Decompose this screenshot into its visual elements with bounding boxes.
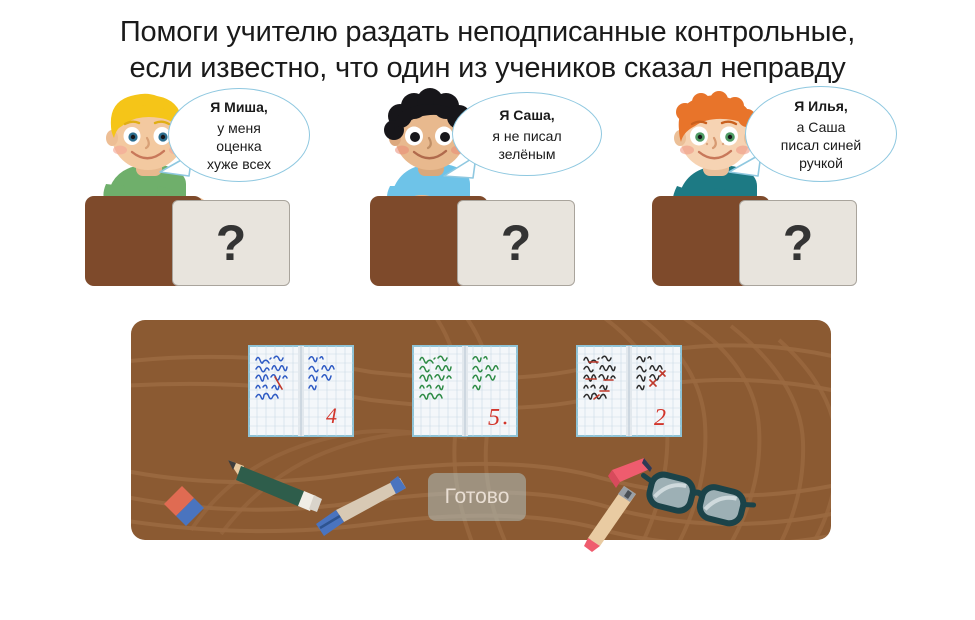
bubble-line: оценка — [216, 137, 261, 155]
bubble-name-sasha: Я Саша, — [499, 106, 554, 125]
answer-slot-misha[interactable]: ? — [172, 200, 290, 286]
bubble-line: а Саша — [797, 118, 846, 136]
answer-placeholder: ? — [216, 214, 247, 272]
notebook-green[interactable]: 5 — [412, 345, 518, 437]
answer-placeholder: ? — [783, 214, 814, 272]
bubble-line: писал синей — [781, 136, 861, 154]
glasses-icon — [640, 470, 760, 540]
bubble-name-ilya: Я Илья, — [794, 97, 848, 116]
answer-slot-ilya[interactable]: ? — [739, 200, 857, 286]
speech-bubble-sasha: Я Саша, я не писал зелёным — [452, 92, 602, 176]
title-line-2: если известно, что один из учеников сказ… — [0, 50, 975, 86]
pen-blue-icon — [300, 470, 410, 540]
grade-mark: 4 — [326, 403, 337, 428]
grade-mark: 2 — [654, 405, 666, 431]
bubble-line: ручкой — [799, 154, 843, 172]
pencil-beige-icon — [578, 480, 648, 555]
notebook-black[interactable]: 2 — [576, 345, 682, 437]
bubble-line: хуже всех — [207, 155, 271, 173]
bubble-name-misha: Я Миша, — [210, 98, 268, 117]
bubble-line: я не писал — [492, 127, 561, 145]
grade-mark: 5 — [488, 405, 500, 431]
eraser-red-blue-icon — [160, 478, 220, 528]
puzzle-scene: Помоги учителю раздать неподписанные кон… — [0, 0, 975, 620]
title-line-1: Помоги учителю раздать неподписанные кон… — [0, 14, 975, 50]
bubble-line: у меня — [217, 119, 261, 137]
done-button[interactable]: Готово — [428, 473, 526, 521]
answer-placeholder: ? — [501, 214, 532, 272]
notebook-blue[interactable]: 4 — [248, 345, 354, 437]
answer-slot-sasha[interactable]: ? — [457, 200, 575, 286]
speech-bubble-misha: Я Миша, у меня оценка хуже всех — [168, 88, 310, 182]
page-title: Помоги учителю раздать неподписанные кон… — [0, 14, 975, 86]
bubble-line: зелёным — [499, 145, 556, 163]
speech-bubble-ilya: Я Илья, а Саша писал синей ручкой — [745, 86, 897, 182]
